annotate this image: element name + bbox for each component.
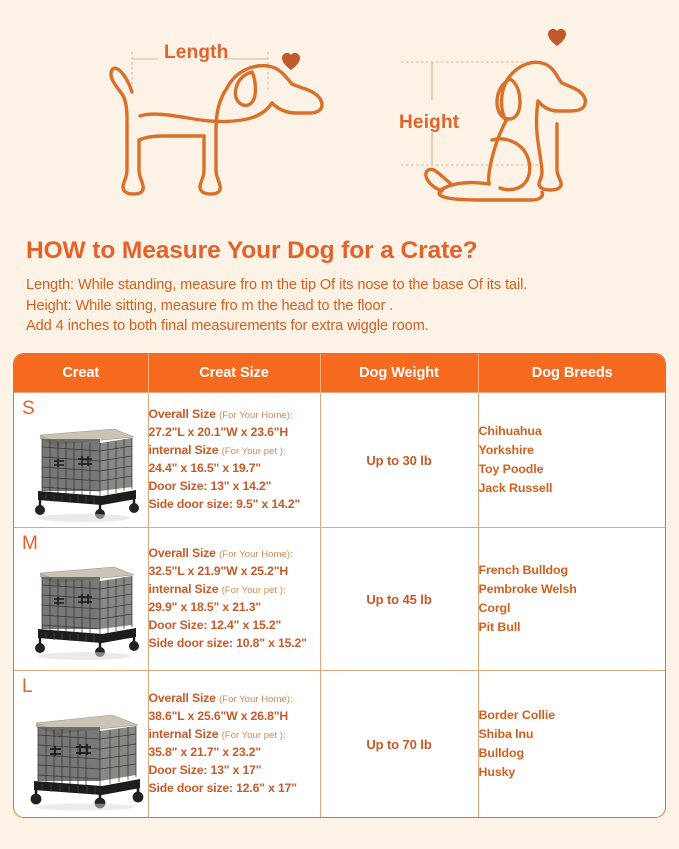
breed-item: Chihuahua xyxy=(479,422,667,441)
internal-size-note: (For Your pet ): xyxy=(222,446,286,457)
breed-item: Pembroke Welsh xyxy=(479,580,667,599)
overall-size-label: Overall Size xyxy=(149,691,216,705)
dog-breeds-cell: Chihuahua Yorkshire Toy Poodle Jack Russ… xyxy=(478,393,666,528)
overall-size-note: (For Your Home): xyxy=(219,694,293,705)
table-row: L xyxy=(14,671,666,818)
instruction-line-3: Add 4 inches to both final measurements … xyxy=(26,316,653,337)
height-label: Height xyxy=(399,112,459,134)
column-header-dog-breeds: Dog Breeds xyxy=(478,354,666,393)
breed-item: French Bulldog xyxy=(479,561,667,580)
breed-item: Toy Poodle xyxy=(479,460,667,479)
table-row: M xyxy=(14,528,666,671)
breed-item: Border Collie xyxy=(479,706,667,725)
standing-dog-illustration: Length xyxy=(96,0,396,222)
breed-item: Pit Bull xyxy=(479,618,667,637)
crate-size-cell: Overall Size (For Your Home): 32.5"L x 2… xyxy=(148,528,320,671)
size-letter-s: S xyxy=(22,398,35,420)
heart-icon xyxy=(282,53,300,70)
dog-weight-cell: Up to 70 lb xyxy=(320,671,478,818)
size-letter-l: L xyxy=(22,676,33,698)
dog-crate-large-image xyxy=(22,691,144,815)
breed-item: Jack Russell xyxy=(479,479,667,498)
crate-image-cell: M xyxy=(14,528,148,671)
dog-breeds-cell: French Bulldog Pembroke Welsh Corgl Pit … xyxy=(478,528,666,671)
overall-size-note: (For Your Home): xyxy=(219,410,293,421)
breed-item: Yorkshire xyxy=(479,441,667,460)
door-size-value: Door Size: 13" x 17" xyxy=(149,762,320,780)
sitting-dog-svg xyxy=(382,0,679,222)
dog-weight-cell: Up to 30 lb xyxy=(320,393,478,528)
overall-size-label: Overall Size xyxy=(149,407,216,421)
internal-size-value: 35.8" x 21.7" x 23.2" xyxy=(149,744,320,762)
table-header-row: Creat Creat Size Dog Weight Dog Breeds xyxy=(14,354,666,393)
internal-size-value: 24.4" x 16.5" x 19.7" xyxy=(149,460,320,478)
internal-size-value: 29.9" x 18.5" x 21.3" xyxy=(149,599,320,617)
internal-size-note: (For Your pet ): xyxy=(222,585,286,596)
crate-size-table: Creat Creat Size Dog Weight Dog Breeds S xyxy=(13,353,666,818)
breed-item: Corgl xyxy=(479,599,667,618)
breed-item: Shiba lnu xyxy=(479,725,667,744)
internal-size-label: internal Size xyxy=(149,582,219,596)
overall-size-value: 27.2"L x 20.1"W x 23.6"H xyxy=(149,424,320,442)
dog-crate-medium-image xyxy=(22,546,144,664)
measurement-illustrations: Length Height xyxy=(0,0,679,222)
table-row: S xyxy=(14,393,666,528)
crate-size-cell: Overall Size (For Your Home): 27.2"L x 2… xyxy=(148,393,320,528)
instruction-line-2: Height: While sitting, measure fro m the… xyxy=(26,296,653,317)
side-door-size-value: Side door size: 9.5" x 14.2" xyxy=(149,496,320,514)
breed-item: Husky xyxy=(479,763,667,782)
dog-weight-cell: Up to 45 lb xyxy=(320,528,478,671)
instruction-line-1: Length: While standing, measure fro m th… xyxy=(26,275,653,296)
side-door-size-value: Side door size: 10.8" x 15.2" xyxy=(149,635,320,653)
internal-size-label: internal Size xyxy=(149,727,219,741)
page-title: HOW to Measure Your Dog for a Crate? xyxy=(26,238,653,265)
column-header-crate-size: Creat Size xyxy=(148,354,320,393)
crate-size-cell: Overall Size (For Your Home): 38.6"L x 2… xyxy=(148,671,320,818)
instructions-block: HOW to Measure Your Dog for a Crate? Len… xyxy=(0,222,679,337)
side-door-size-value: Side door size: 12.6" x 17" xyxy=(149,780,320,798)
column-header-dog-weight: Dog Weight xyxy=(320,354,478,393)
sitting-dog-illustration: Height xyxy=(382,0,679,222)
length-label: Length xyxy=(164,42,229,64)
door-size-value: Door Size: 12.4" x 15.2" xyxy=(149,617,320,635)
crate-image-cell: S xyxy=(14,393,148,528)
breed-item: Bulldog xyxy=(479,744,667,763)
overall-size-label: Overall Size xyxy=(149,546,216,560)
standing-dog-svg xyxy=(96,0,396,222)
door-size-value: Door Size: 13" x 14.2" xyxy=(149,478,320,496)
size-letter-m: M xyxy=(22,533,38,555)
overall-size-note: (For Your Home): xyxy=(219,549,293,560)
overall-size-value: 38.6"L x 25.6"W x 26.8"H xyxy=(149,708,320,726)
dog-crate-small-image xyxy=(22,411,144,523)
heart-icon xyxy=(548,29,566,46)
internal-size-label: internal Size xyxy=(149,443,219,457)
column-header-crate: Creat xyxy=(14,354,148,393)
internal-size-note: (For Your pet ): xyxy=(222,730,286,741)
dog-breeds-cell: Border Collie Shiba lnu Bulldog Husky xyxy=(478,671,666,818)
overall-size-value: 32.5"L x 21.9"W x 25.2"H xyxy=(149,563,320,581)
crate-image-cell: L xyxy=(14,671,148,818)
